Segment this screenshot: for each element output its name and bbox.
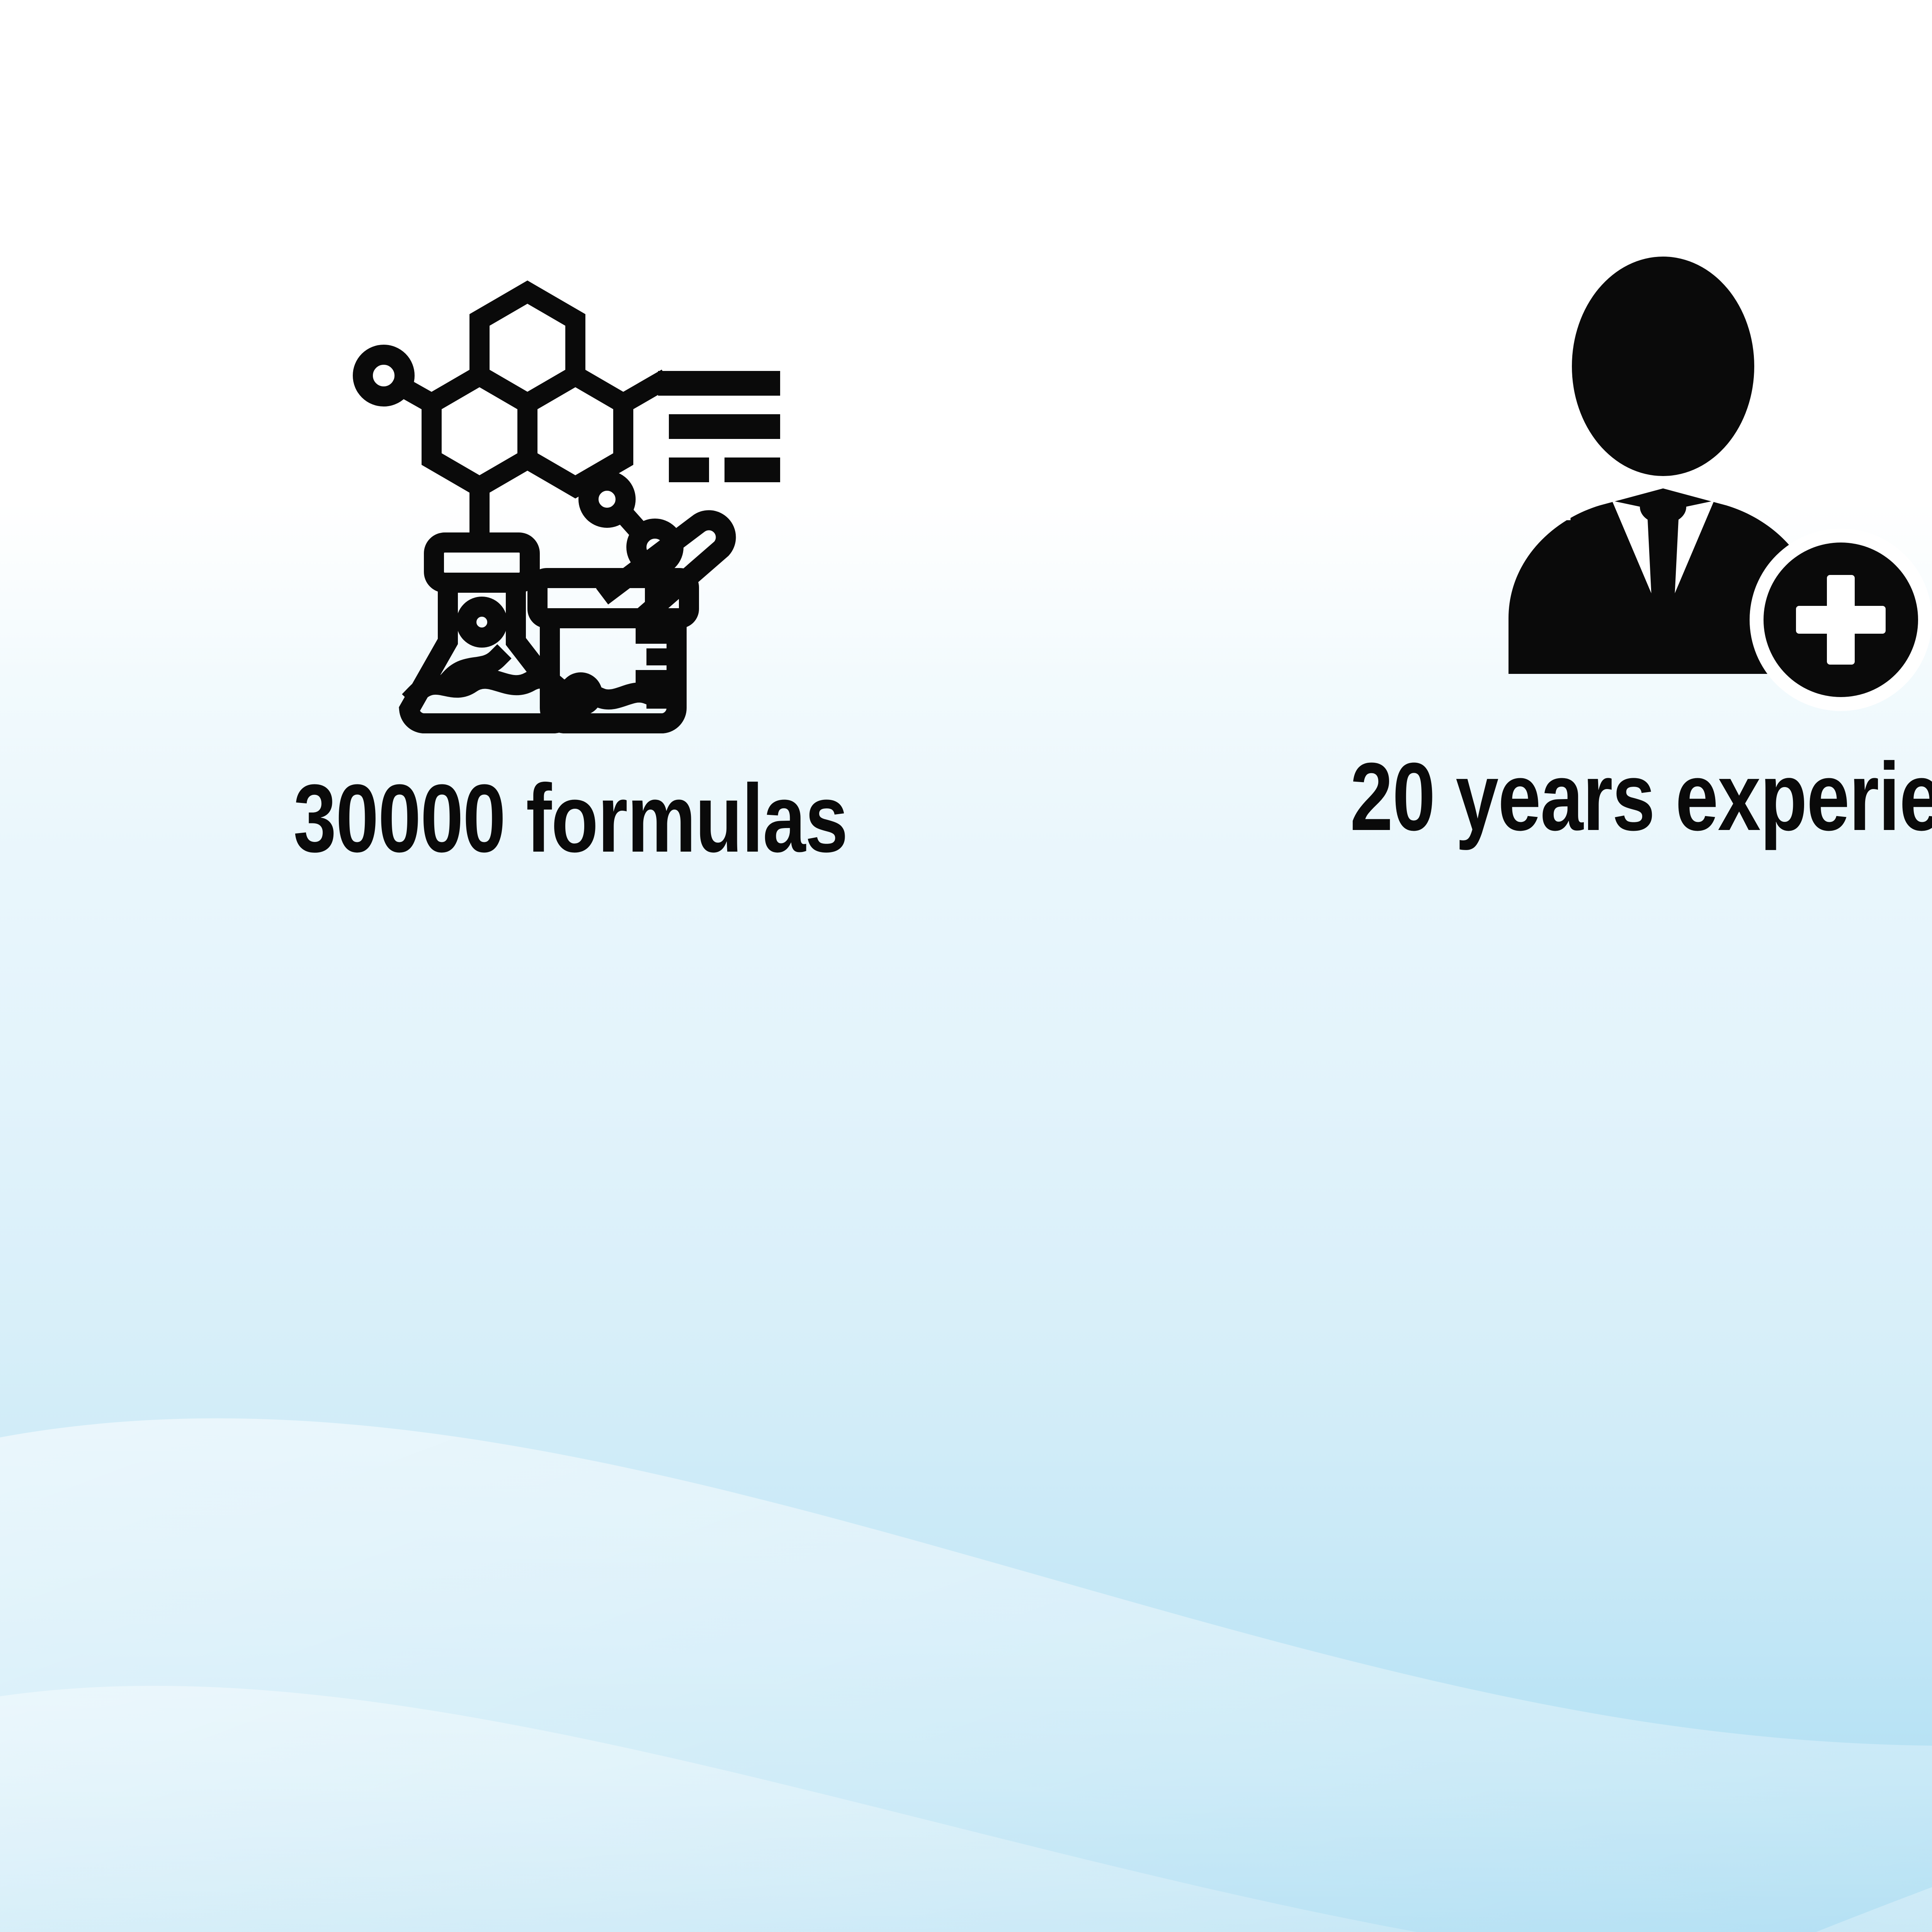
stat-item-patents: 6 patents bbox=[0, 867, 1141, 1932]
stat-label-experience: 20 years experience bbox=[1350, 747, 1932, 846]
chemistry-flask-molecule-icon bbox=[335, 270, 806, 734]
stat-item-repurchasing: 99% repurchasing rate bbox=[1141, 867, 1932, 1932]
businessman-add-user-icon bbox=[1484, 257, 1932, 713]
infographic-canvas: 30000 formulas bbox=[0, 0, 1932, 1932]
stats-grid: 30000 formulas bbox=[0, 0, 1932, 1932]
stat-label-formulas: 30000 formulas bbox=[294, 769, 848, 867]
stat-item-experience: 20 years experience bbox=[1141, 0, 1932, 867]
stat-item-formulas: 30000 formulas bbox=[0, 0, 1141, 867]
